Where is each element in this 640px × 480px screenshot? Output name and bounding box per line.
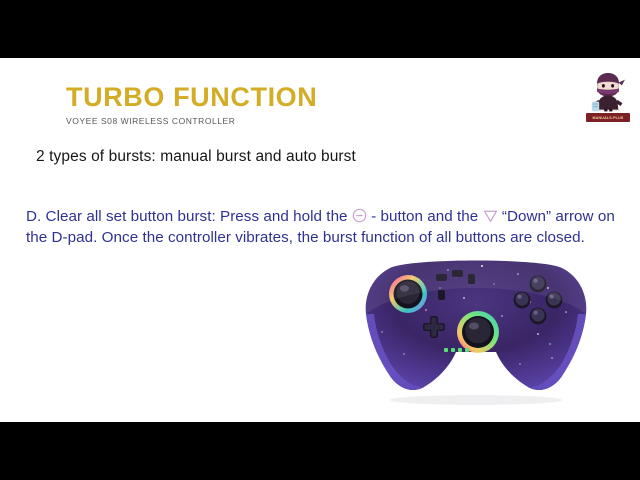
body-text-part-1: D. Clear all set button burst: Press and… <box>26 208 352 225</box>
product-image-controller <box>352 254 600 406</box>
section-heading: 2 types of bursts: manual burst and auto… <box>36 148 356 166</box>
ninja-avatar-icon <box>588 70 628 112</box>
slide-canvas: TURBO FUNCTION VOYEE S08 WIRELESS CONTRO… <box>0 58 640 422</box>
minus-circle-icon <box>352 208 367 223</box>
letterbox-bottom-bar <box>0 422 640 480</box>
title-block: TURBO FUNCTION VOYEE S08 WIRELESS CONTRO… <box>66 84 317 126</box>
page-subtitle: VOYEE S08 WIRELESS CONTROLLER <box>66 116 317 126</box>
letterbox-top-bar <box>0 0 640 58</box>
watermark-banner: MANUALS.PLUS <box>586 113 630 122</box>
body-text-part-2: - button and the <box>367 208 483 225</box>
triangle-down-icon <box>483 209 498 223</box>
video-frame: TURBO FUNCTION VOYEE S08 WIRELESS CONTRO… <box>0 0 640 480</box>
page-title: TURBO FUNCTION <box>66 84 317 111</box>
watermark-label: MANUALS.PLUS <box>593 116 624 120</box>
watermark-badge: MANUALS.PLUS <box>584 70 632 122</box>
body-paragraph: D. Clear all set button burst: Press and… <box>26 206 626 248</box>
